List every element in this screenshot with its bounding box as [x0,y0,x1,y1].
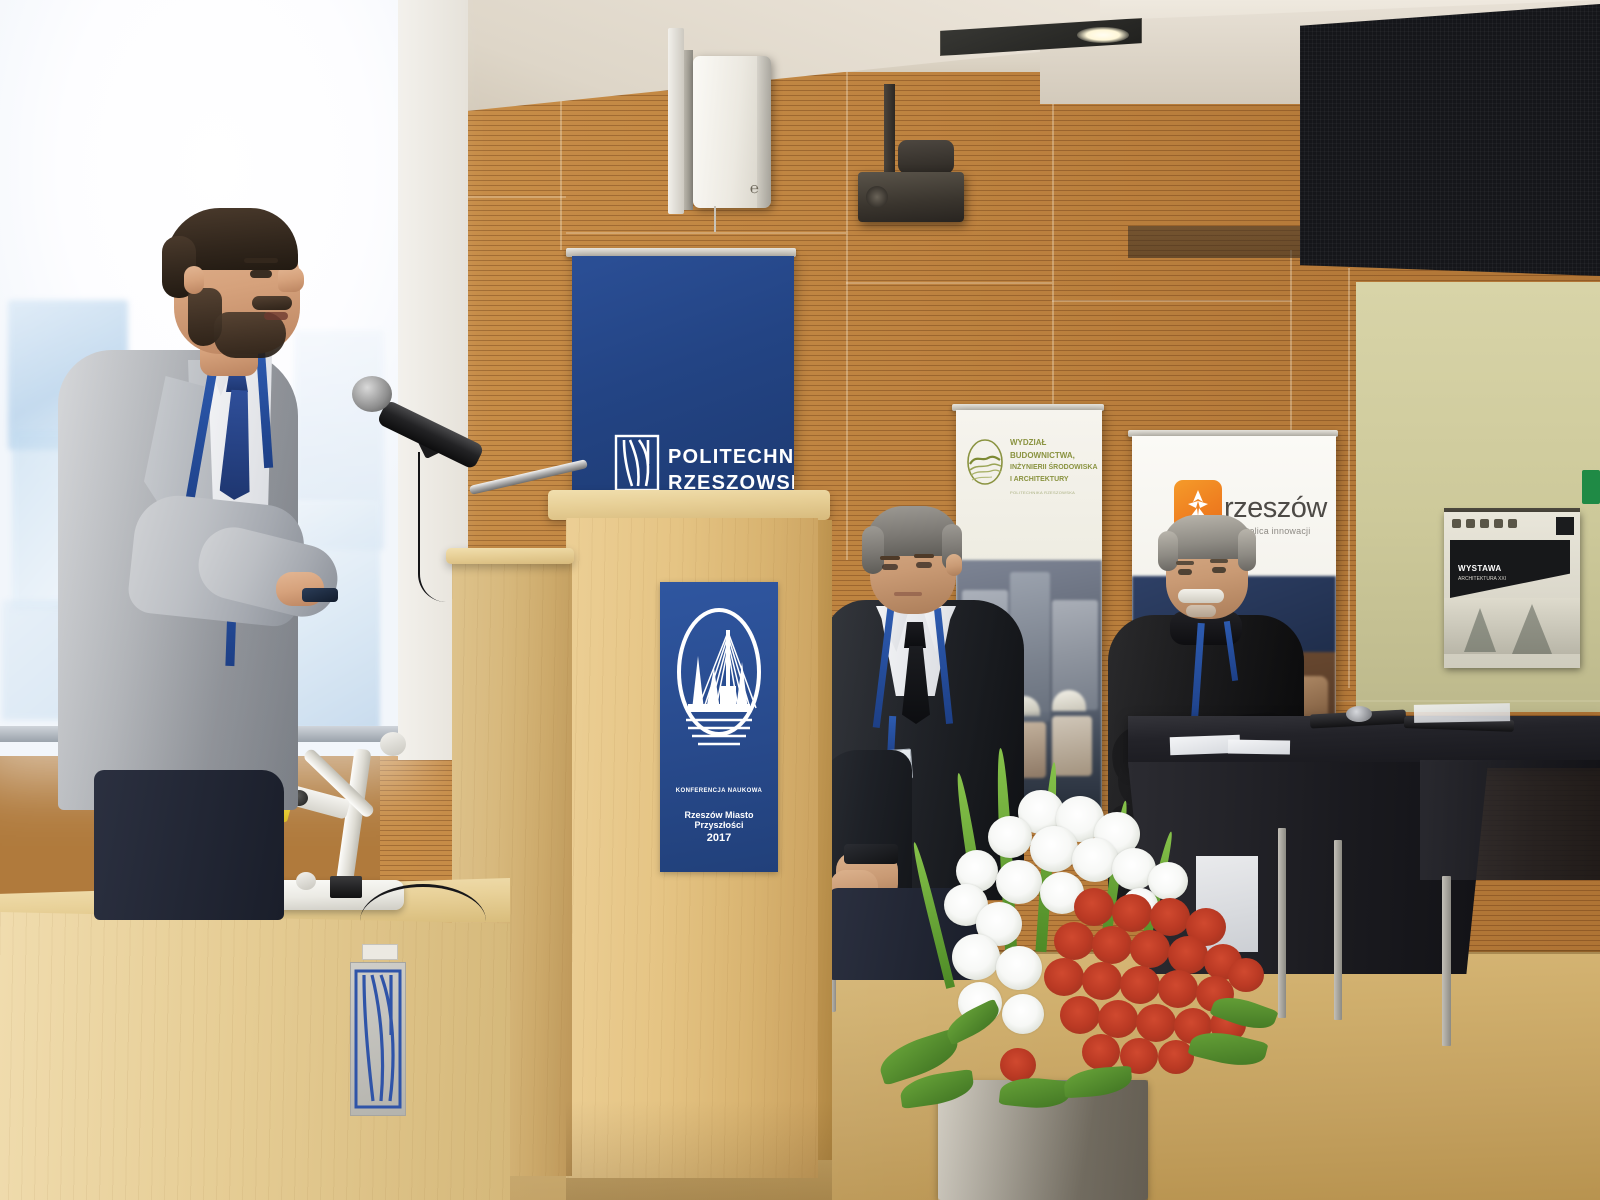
faculty-subtitle: POLITECHNIKA RZESZOWSKA [1010,490,1075,495]
poster-footer-strip [1444,654,1580,668]
table-cloth-drape [1420,760,1600,880]
lecturer-desk-front [0,912,510,1200]
poster-logo-icon [1466,519,1475,528]
table-leg [1278,828,1286,1018]
wall-seam [846,282,1052,284]
speaker-at-podium [48,200,388,900]
wall-loudspeaker: ℮ [693,56,771,208]
politechnika-pr-logo [614,434,660,492]
loudspeaker-brand-mark: ℮ [750,181,759,198]
poster-logo-icon [1452,519,1461,528]
projector-pole [884,84,895,180]
poster-logo-row [1452,519,1517,528]
podium-sign: KONFERENCJA NAUKOWA Rzeszów Miasto Przys… [660,582,778,872]
faculty-line-1: WYDZIAŁ [1010,438,1046,448]
faculty-line-3: INŻYNIERII ŚRODOWISKA [1010,464,1098,473]
podium-sign-line-2: Rzeszów Miasto Przyszłości [660,810,778,830]
dark-acoustic-panel [1300,4,1600,276]
wall-seam [566,232,846,234]
wall-seam [1348,268,1350,688]
table-leg [1442,876,1451,1046]
faculty-line-4: I ARCHITEKTURY [1010,476,1069,485]
politechnika-banner: POLITECHNIKA RZESZOWSKA [572,256,794,508]
wall-poster: WYSTAWA ARCHITEKTURA XXI [1444,512,1580,668]
loudspeaker-bracket [668,28,684,214]
poster-logo-icon [1480,519,1489,528]
podium-sign-line-3: 2017 [660,832,778,844]
banner-line-1: POLITECHNIKA [668,446,794,468]
table-microphone-head [1346,706,1372,722]
wall-seam [1052,300,1292,302]
poster-logo-icon [1508,519,1517,528]
poster-shape [1464,608,1496,652]
table-papers [1228,739,1290,754]
podium-side [818,520,832,1160]
faculty-line-2: BUDOWNICTWA, [1010,451,1075,461]
podium-top [548,490,830,520]
politechnika-pr-logo [351,963,405,1115]
poster-logo-icon [1494,519,1503,528]
table-leg [1334,840,1342,1020]
presentation-clicker [302,588,338,602]
podium-floor-shadow [566,1100,832,1200]
projector-lens [866,186,888,208]
exit-sign [1582,470,1600,504]
faculty-oval-logo [966,438,1004,486]
mustache [1178,589,1224,603]
poster-shape [1512,604,1552,654]
loudspeaker-plate [684,50,693,210]
podium-sign-line-1: KONFERENCJA NAUKOWA [660,788,778,794]
desk-small-label [362,944,398,960]
smartphone [844,844,898,864]
conference-scene: ℮ POLITECHNIKA RZESZOWSKA WYDZIAŁ BUDOW [0,0,1600,1200]
loudspeaker-cable [714,206,716,232]
microphone-cable [418,452,446,602]
bridge-oval-emblem [676,600,762,760]
table-papers [1414,703,1510,723]
projector-mount-head [898,140,954,174]
wall-shadow-strip [1128,226,1328,258]
poster-corner-mark [1556,517,1574,535]
podium-extension-top [446,548,574,564]
wall-seam [846,0,848,560]
poster-subtitle: ARCHITEKTURA XXI [1458,576,1506,582]
desk-logo-plate [350,962,406,1116]
poster-title: WYSTAWA [1458,564,1502,573]
